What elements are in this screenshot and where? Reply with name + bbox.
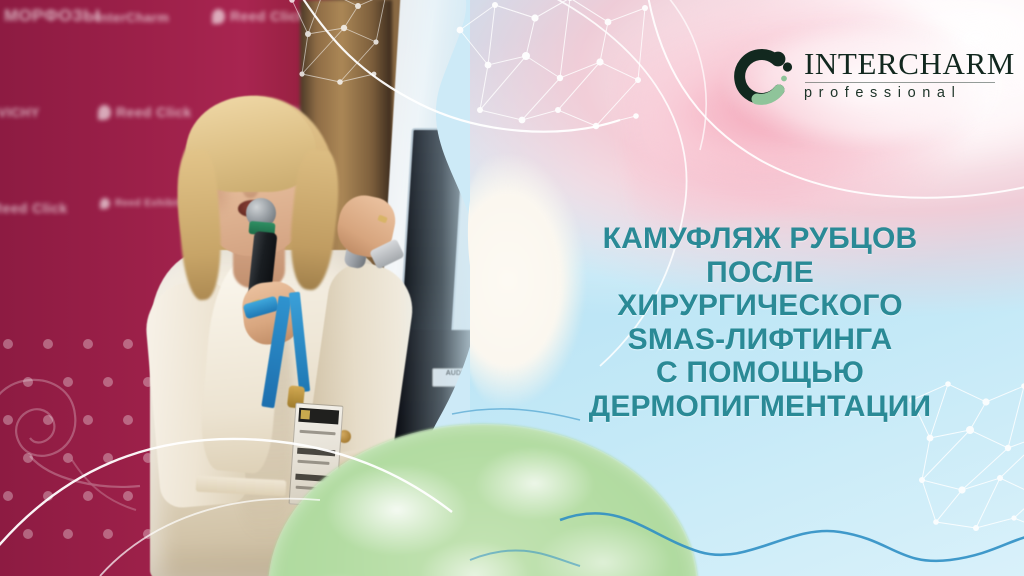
slide-title: КАМУФЛЯЖ РУБЦОВ ПОСЛЕ ХИРУРГИЧЕСКОГО SMA… [520, 222, 1000, 424]
title-line-6: ДЕРМОПИГМЕНТАЦИИ [520, 390, 1000, 424]
intercharm-professional-logo: INTERCHARM professional [726, 42, 996, 118]
logo-divider [805, 82, 995, 83]
logo-title: INTERCHARM [804, 48, 1000, 79]
badge-logo-square [300, 410, 310, 420]
title-line-3: ХИРУРГИЧЕСКОГО [520, 289, 1000, 323]
logo-wordmark: INTERCHARM professional [804, 48, 1000, 101]
logo-subtitle: professional [804, 85, 1000, 101]
badge-block-1 [297, 448, 335, 457]
badge-text-line-2 [297, 460, 329, 465]
badge-text-line-1 [300, 430, 336, 436]
title-line-5: С ПОМОЩЬЮ [520, 356, 1000, 390]
presentation-slide: МОРФОЗЫ InterCharm Reed Click VICHY Reed… [0, 0, 1024, 576]
circle-dots-arc-icon [726, 46, 798, 112]
title-line-2: ПОСЛЕ [520, 256, 1000, 290]
title-line-1: КАМУФЛЯЖ РУБЦОВ [520, 222, 1000, 256]
title-line-4: SMAS-ЛИФТИНГА [520, 323, 1000, 357]
